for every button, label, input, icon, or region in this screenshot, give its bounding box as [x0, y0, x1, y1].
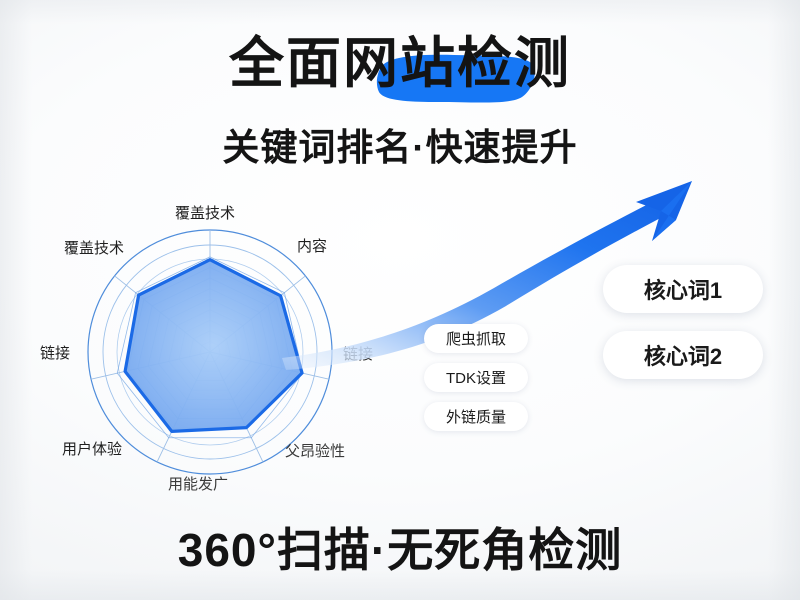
page-title: 全面网站检测 [229, 34, 571, 93]
poster-canvas: 全面网站检测 关键词排名·快速提升 [0, 0, 800, 600]
title-highlight: 网站 [343, 32, 457, 94]
footer-headline: 360°扫描·无死角检测 [0, 514, 800, 580]
title-block: 全面网站检测 [0, 34, 800, 93]
badge-backlink-label: 外链质量 [446, 406, 506, 427]
axis-label-lower-right: 父昂验性 [285, 440, 345, 461]
badge-crawl[interactable]: 爬虫抓取 [424, 324, 528, 353]
page-subtitle: 关键词排名·快速提升 [0, 117, 800, 171]
axis-label-right: 链接 [343, 343, 373, 364]
badge-keyword-2-label: 核心词2 [644, 339, 722, 371]
badge-keyword-1[interactable]: 核心词1 [603, 265, 763, 313]
title-suffix: 检测 [457, 32, 571, 94]
badge-backlink[interactable]: 外链质量 [424, 402, 528, 431]
title-prefix: 全面 [229, 32, 343, 94]
badge-keyword-2[interactable]: 核心词2 [603, 331, 763, 379]
badge-tdk[interactable]: TDK设置 [424, 363, 528, 392]
axis-label-bottom: 用能发广 [168, 473, 228, 494]
badge-crawl-label: 爬虫抓取 [446, 328, 506, 349]
axis-label-left: 链接 [40, 342, 70, 363]
radar-series-polygon [125, 260, 302, 432]
badge-keyword-1-label: 核心词1 [644, 273, 722, 305]
axis-label-upper-right: 内容 [297, 235, 327, 256]
axis-label-top: 覆盖技术 [175, 202, 235, 223]
axis-label-lower-left: 用户体验 [62, 438, 122, 459]
axis-label-upper-left: 覆盖技术 [64, 237, 124, 258]
badge-tdk-label: TDK设置 [446, 367, 506, 388]
radar-chart: 覆盖技术 内容 链接 父昂验性 用能发广 用户体验 链接 覆盖技术 [20, 190, 420, 520]
